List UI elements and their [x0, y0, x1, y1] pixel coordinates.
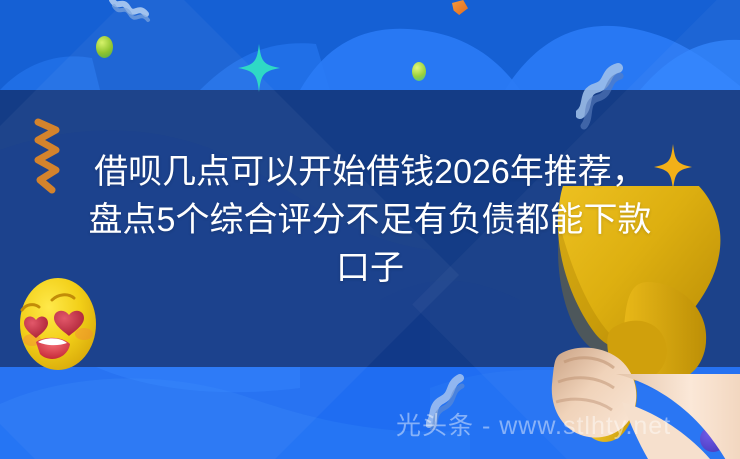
title-line-1: 借呗几点可以开始借钱2026年推荐， — [0, 148, 740, 196]
title-line-2: 盘点5个综合评分不足有负债都能下款 — [0, 196, 740, 244]
title-line-3: 口子 — [0, 244, 740, 292]
promo-banner: 借呗几点可以开始借钱2026年推荐， 盘点5个综合评分不足有负债都能下款 口子 … — [0, 0, 740, 459]
background-band-top — [0, 0, 740, 90]
banner-title: 借呗几点可以开始借钱2026年推荐， 盘点5个综合评分不足有负债都能下款 口子 — [0, 148, 740, 292]
site-watermark: 光头条 - www.stlhty.net — [396, 406, 671, 442]
